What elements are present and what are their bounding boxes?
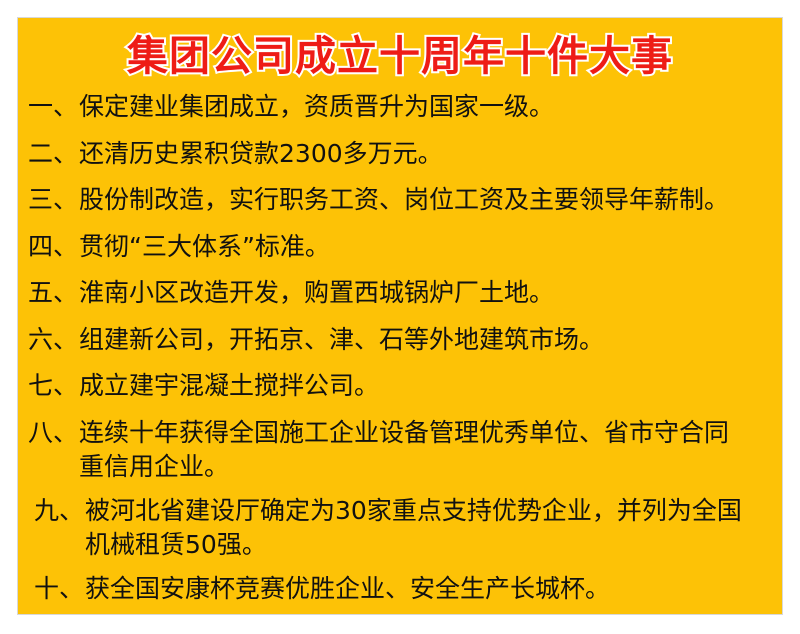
list-item-text: 淮南小区改造开发，购置西城锅炉厂土地。: [79, 276, 768, 311]
page-title: 集团公司成立十周年十件大事: [127, 36, 673, 77]
list-item-marker: 八、: [28, 416, 79, 451]
list-item: 七、 成立建宇混凝土搅拌公司。: [28, 369, 768, 404]
list-item: 三、 股份制改造，实行职务工资、岗位工资及主要领导年薪制。: [28, 183, 768, 218]
list-item-line: 重信用企业。: [79, 450, 768, 485]
list-item-text: 还清历史累积贷款2300多万元。: [79, 137, 768, 172]
list-item: 四、 贯彻“三大体系”标准。: [28, 230, 768, 265]
list-item: 五、 淮南小区改造开发，购置西城锅炉厂土地。: [28, 276, 768, 311]
list-item-line: 保定建业集团成立，资质晋升为国家一级。: [79, 90, 768, 125]
list-item-marker: 十、: [34, 572, 85, 607]
list-item-line: 成立建宇混凝土搅拌公司。: [79, 369, 768, 404]
list-item-marker: 五、: [28, 276, 79, 311]
list-item: 六、 组建新公司，开拓京、津、石等外地建筑市场。: [28, 323, 768, 358]
list-item: 二、 还清历史累积贷款2300多万元。: [28, 137, 768, 172]
list-item-text: 连续十年获得全国施工企业设备管理优秀单位、省市守合同 重信用企业。: [79, 416, 768, 485]
list-item-marker: 三、: [28, 183, 79, 218]
events-list: 一、 保定建业集团成立，资质晋升为国家一级。 二、 还清历史累积贷款2300多万…: [18, 86, 782, 606]
list-item-line: 贯彻“三大体系”标准。: [79, 230, 768, 265]
list-item: 一、 保定建业集团成立，资质晋升为国家一级。: [28, 90, 768, 125]
list-item-text: 成立建宇混凝土搅拌公司。: [79, 369, 768, 404]
list-item-text: 股份制改造，实行职务工资、岗位工资及主要领导年薪制。: [79, 183, 768, 218]
list-item-marker: 九、: [34, 494, 85, 529]
list-item-line: 淮南小区改造开发，购置西城锅炉厂土地。: [79, 276, 768, 311]
list-item: 九、 被河北省建设厅确定为30家重点支持优势企业，并列为全国 机械租赁50强。: [28, 494, 768, 563]
list-item: 十、 获全国安康杯竞赛优胜企业、安全生产长城杯。: [28, 572, 768, 607]
poster-title-container: 集团公司成立十周年十件大事: [18, 18, 782, 86]
list-item-line: 被河北省建设厅确定为30家重点支持优势企业，并列为全国: [85, 494, 768, 529]
list-item-line: 还清历史累积贷款2300多万元。: [79, 137, 768, 172]
list-item-text: 贯彻“三大体系”标准。: [79, 230, 768, 265]
list-item-marker: 四、: [28, 230, 79, 265]
list-item-marker: 七、: [28, 369, 79, 404]
list-item-line: 机械租赁50强。: [85, 528, 768, 563]
list-item-text: 保定建业集团成立，资质晋升为国家一级。: [79, 90, 768, 125]
poster-panel: 集团公司成立十周年十件大事 一、 保定建业集团成立，资质晋升为国家一级。 二、 …: [17, 17, 783, 615]
list-item-line: 连续十年获得全国施工企业设备管理优秀单位、省市守合同: [79, 416, 768, 451]
list-item-text: 组建新公司，开拓京、津、石等外地建筑市场。: [79, 323, 768, 358]
list-item-line: 获全国安康杯竞赛优胜企业、安全生产长城杯。: [85, 572, 768, 607]
list-item-marker: 六、: [28, 323, 79, 358]
list-item-text: 获全国安康杯竞赛优胜企业、安全生产长城杯。: [85, 572, 768, 607]
list-item-line: 股份制改造，实行职务工资、岗位工资及主要领导年薪制。: [79, 183, 768, 218]
list-item-marker: 二、: [28, 137, 79, 172]
list-item-text: 被河北省建设厅确定为30家重点支持优势企业，并列为全国 机械租赁50强。: [85, 494, 768, 563]
list-item-marker: 一、: [28, 90, 79, 125]
list-item: 八、 连续十年获得全国施工企业设备管理优秀单位、省市守合同 重信用企业。: [28, 416, 768, 485]
list-item-line: 组建新公司，开拓京、津、石等外地建筑市场。: [79, 323, 768, 358]
